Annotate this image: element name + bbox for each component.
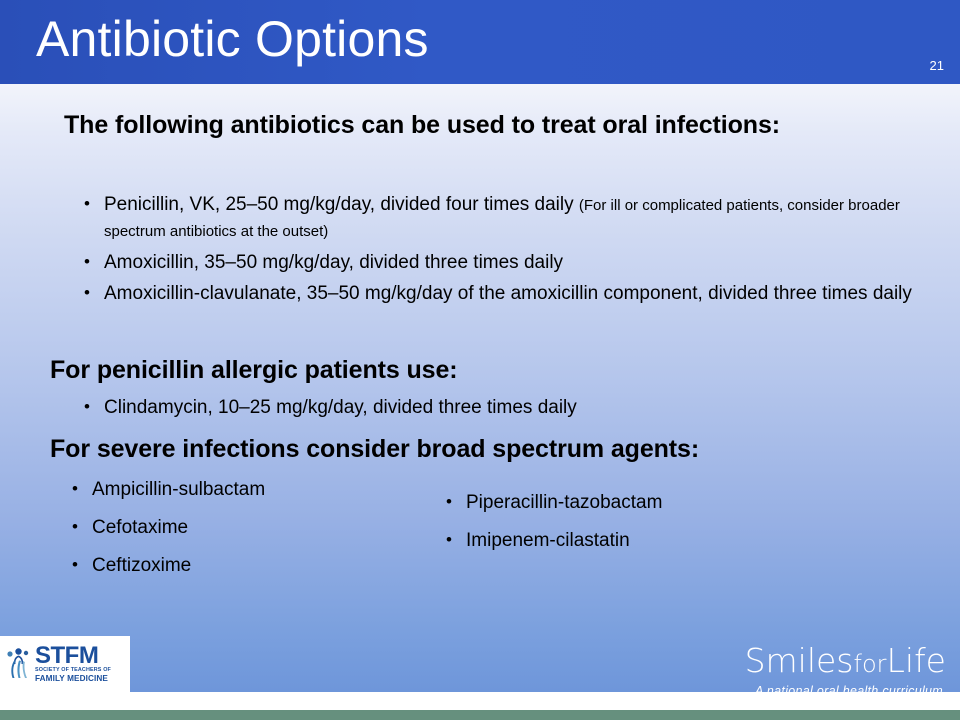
section-heading-severe-infections: For severe infections consider broad spe…	[50, 434, 950, 465]
stfm-wordmark: STFM SOCIETY OF TEACHERS OF FAMILY MEDIC…	[35, 645, 111, 684]
list-item-text: Clindamycin, 10–25 mg/kg/day, divided th…	[104, 397, 577, 418]
list-item: Penicillin, VK, 25–50 mg/kg/day, divided…	[78, 192, 928, 244]
list-item: Amoxicillin-clavulanate, 35–50 mg/kg/day…	[78, 281, 928, 306]
stfm-logo: STFM SOCIETY OF TEACHERS OF FAMILY MEDIC…	[0, 636, 130, 692]
stfm-subtitle-line2: FAMILY MEDICINE	[35, 674, 111, 684]
page-title: Antibiotic Options	[36, 8, 429, 70]
slide-number: 21	[930, 58, 944, 74]
footer-green-band	[0, 710, 960, 720]
sfl-word-smiles: Smiles	[745, 641, 854, 680]
list-item: Cefotaxime	[64, 515, 444, 540]
stfm-acronym: STFM	[35, 645, 111, 667]
stfm-figure-icon	[6, 647, 32, 681]
list-item: Ampicillin-sulbactam	[64, 477, 444, 502]
section-heading-oral-infections: The following antibiotics can be used to…	[64, 110, 904, 141]
smiles-for-life-logotype: SmilesforLife	[745, 642, 946, 683]
slide: Antibiotic Options 21 The following anti…	[0, 0, 960, 720]
stfm-subtitle-line1: SOCIETY OF TEACHERS OF	[35, 667, 111, 674]
list-item: Piperacillin-tazobactam	[438, 490, 858, 515]
list-item-text: Amoxicillin-clavulanate, 35–50 mg/kg/day…	[104, 283, 912, 304]
broad-spectrum-right-column: Piperacillin-tazobactam Imipenem-cilasta…	[438, 490, 858, 566]
slide-title-bar: Antibiotic Options 21	[0, 0, 960, 84]
broad-spectrum-left-column: Ampicillin-sulbactam Cefotaxime Ceftizox…	[64, 477, 444, 591]
list-item: Ceftizoxime	[64, 553, 444, 578]
list-item: Imipenem-cilastatin	[438, 528, 858, 553]
sfl-word-for: for	[854, 650, 887, 678]
sfl-word-life: Life	[887, 641, 946, 680]
list-item-text: Amoxicillin, 35–50 mg/kg/day, divided th…	[104, 252, 563, 273]
antibiotic-list-primary: Penicillin, VK, 25–50 mg/kg/day, divided…	[78, 192, 928, 312]
list-item: Amoxicillin, 35–50 mg/kg/day, divided th…	[78, 250, 928, 275]
list-item-text: Penicillin, VK, 25–50 mg/kg/day, divided…	[104, 194, 579, 215]
smiles-for-life-tagline: A national oral health curriculum	[745, 683, 946, 700]
list-item: Clindamycin, 10–25 mg/kg/day, divided th…	[78, 395, 928, 420]
slide-body: The following antibiotics can be used to…	[0, 84, 960, 644]
antibiotic-list-allergic: Clindamycin, 10–25 mg/kg/day, divided th…	[78, 395, 928, 426]
section-heading-penicillin-allergic: For penicillin allergic patients use:	[50, 355, 910, 386]
smiles-for-life-branding: SmilesforLife A national oral health cur…	[745, 642, 946, 700]
